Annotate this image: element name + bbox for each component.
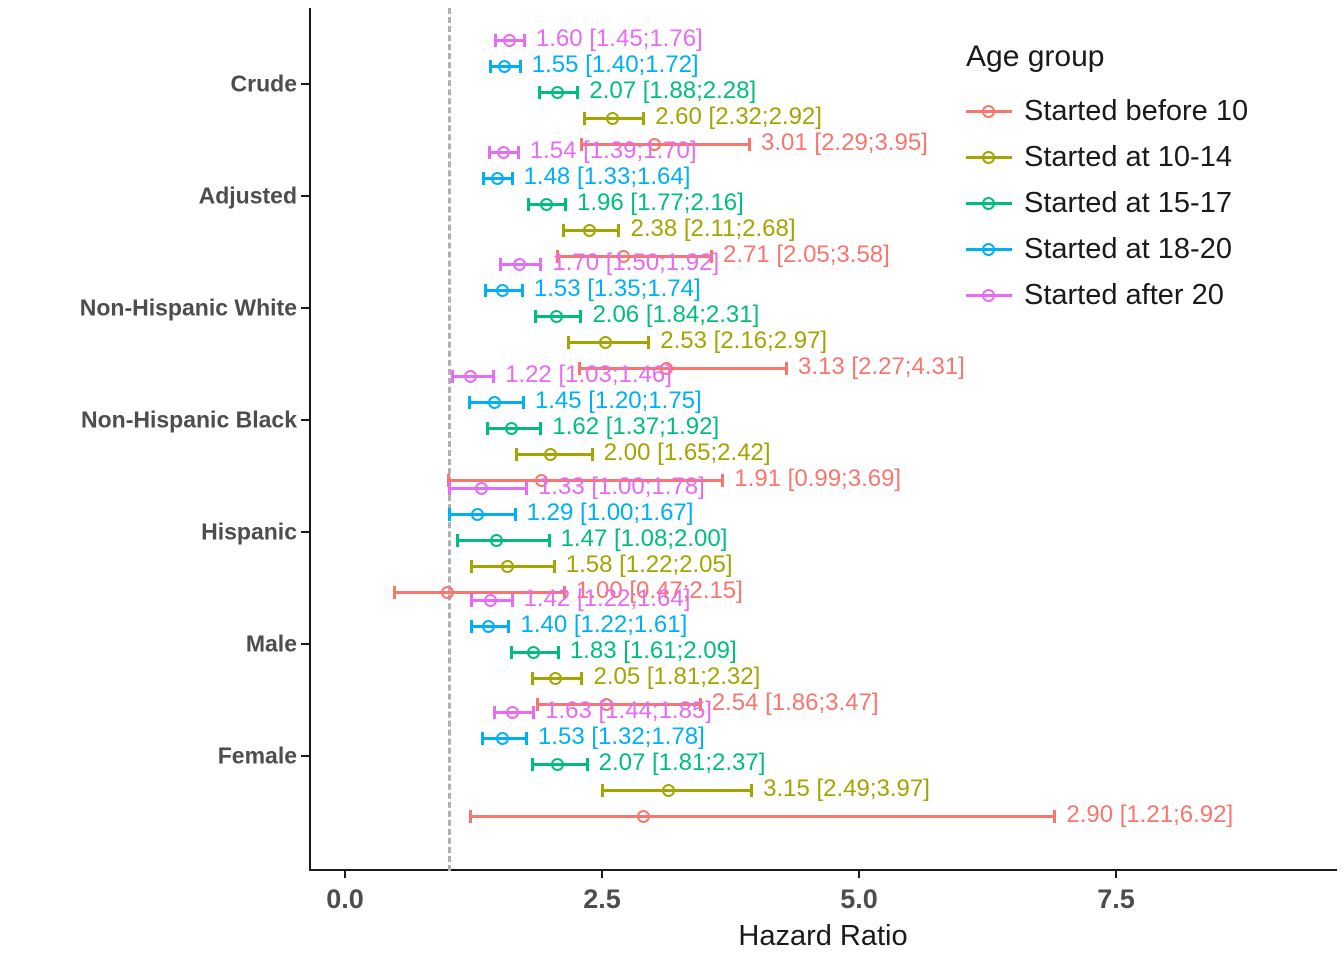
ci-lower-cap (486, 422, 489, 435)
point-estimate-marker[interactable] (484, 594, 497, 607)
ci-lower-cap (456, 534, 459, 547)
legend-key-icon (966, 283, 1012, 307)
point-estimate-marker[interactable] (490, 534, 503, 547)
estimate-label: 2.00 [1.65;2.42] (598, 439, 771, 467)
y-tick-mark (301, 307, 309, 309)
estimate-label: 1.58 [1.22;2.05] (560, 551, 733, 579)
estimate-label: 3.13 [2.27;4.31] (792, 353, 965, 381)
point-estimate-marker[interactable] (550, 310, 563, 323)
y-tick-mark (301, 419, 309, 421)
ci-upper-cap (511, 594, 514, 607)
y-tick-label-male: Male (246, 631, 297, 658)
point-estimate-marker[interactable] (496, 732, 509, 745)
ci-upper-cap (750, 784, 753, 797)
point-estimate-marker[interactable] (503, 34, 516, 47)
estimate-label: 1.45 [1.20;1.75] (529, 387, 702, 415)
ci-lower-cap (470, 620, 473, 633)
point-estimate-marker[interactable] (497, 146, 510, 159)
point-estimate-marker[interactable] (505, 422, 518, 435)
y-tick-mark (301, 195, 309, 197)
y-tick-label-non-hispanic-white: Non-Hispanic White (80, 295, 297, 322)
point-estimate-marker[interactable] (549, 672, 562, 685)
x-axis-label: Hazard Ratio (309, 920, 1337, 953)
legend-item-started-at-15-17[interactable]: Started at 15-17 (966, 180, 1336, 226)
x-tick-mark (858, 871, 860, 878)
legend-key-icon (966, 145, 1012, 169)
y-tick-mark (301, 755, 309, 757)
ci-lower-cap (493, 706, 496, 719)
x-tick-label: 0.0 (326, 884, 364, 915)
ci-lower-cap (470, 594, 473, 607)
forest-plot-figure: 1.60 [1.45;1.76]1.55 [1.40;1.72]2.07 [1.… (0, 0, 1344, 960)
estimate-label: 1.63 [1.44;1.85] (539, 697, 712, 725)
ci-upper-cap (548, 534, 551, 547)
legend-key-point-icon (982, 151, 995, 164)
ci-upper-cap (642, 112, 645, 125)
ci-lower-cap (484, 284, 487, 297)
y-tick-label-adjusted: Adjusted (199, 183, 297, 210)
point-estimate-marker[interactable] (441, 586, 454, 599)
estimate-label: 2.54 [1.86;3.47] (706, 689, 879, 717)
legend-key-point-icon (982, 105, 995, 118)
legend-items: Started before 10Started at 10-14Started… (966, 88, 1336, 318)
y-tick-label-hispanic: Hispanic (201, 519, 297, 546)
ci-upper-cap (532, 706, 535, 719)
ci-lower-cap (567, 336, 570, 349)
ci-upper-cap (517, 146, 520, 159)
point-estimate-marker[interactable] (544, 448, 557, 461)
estimate-label: 1.40 [1.22;1.61] (514, 611, 687, 639)
point-estimate-marker[interactable] (464, 370, 477, 383)
point-estimate-marker[interactable] (662, 784, 675, 797)
legend-key-point-icon (982, 243, 995, 256)
ci-upper-cap (591, 448, 594, 461)
ci-upper-cap (617, 224, 620, 237)
x-tick-mark (344, 871, 346, 878)
x-tick-mark (1115, 871, 1117, 878)
x-tick-label: 7.5 (1097, 884, 1135, 915)
ci-lower-cap (393, 586, 396, 599)
ci-upper-cap (507, 620, 510, 633)
point-estimate-marker[interactable] (583, 224, 596, 237)
ci-upper-cap (1053, 810, 1056, 823)
estimate-label: 1.29 [1.00;1.67] (521, 499, 694, 527)
point-estimate-marker[interactable] (498, 60, 511, 73)
estimate-label: 1.42 [1.22;1.64] (518, 585, 691, 613)
y-tick-mark (301, 531, 309, 533)
estimate-label: 3.01 [2.29;3.95] (755, 129, 928, 157)
estimate-label: 1.47 [1.08;2.00] (555, 525, 728, 553)
estimate-label: 2.07 [1.81;2.37] (593, 749, 766, 777)
legend-item-label: Started at 10-14 (1024, 141, 1232, 174)
ci-upper-cap (564, 198, 567, 211)
y-tick-mark (301, 643, 309, 645)
ci-upper-cap (523, 34, 526, 47)
ci-upper-cap (521, 284, 524, 297)
ci-upper-cap (557, 646, 560, 659)
estimate-label: 1.70 [1.50;1.92] (546, 249, 719, 277)
legend-item-label: Started after 20 (1024, 279, 1224, 312)
estimate-label: 3.15 [2.49;3.97] (757, 775, 930, 803)
legend-key-point-icon (982, 197, 995, 210)
point-estimate-marker[interactable] (471, 508, 484, 521)
ci-lower-cap (534, 310, 537, 323)
y-tick-mark (301, 83, 309, 85)
estimate-label: 1.96 [1.77;2.16] (571, 189, 744, 217)
legend-key-point-icon (982, 289, 995, 302)
ci-lower-cap (470, 560, 473, 573)
point-estimate-marker[interactable] (496, 284, 509, 297)
ci-lower-cap (448, 482, 451, 495)
ci-lower-cap (527, 198, 530, 211)
legend-item-started-after-20[interactable]: Started after 20 (966, 272, 1336, 318)
ci-lower-cap (601, 784, 604, 797)
confidence-interval-line (469, 815, 1056, 818)
estimate-label: 2.38 [2.11;2.68] (624, 215, 795, 243)
estimate-label: 1.60 [1.45;1.76] (530, 25, 703, 53)
legend: Age group Started before 10Started at 10… (966, 40, 1336, 318)
estimate-label: 2.71 [2.05;3.58] (717, 241, 890, 269)
ci-lower-cap (562, 224, 565, 237)
point-estimate-marker[interactable] (599, 336, 612, 349)
ci-lower-cap (583, 112, 586, 125)
ci-lower-cap (515, 448, 518, 461)
ci-upper-cap (647, 336, 650, 349)
ci-upper-cap (785, 362, 788, 375)
point-estimate-marker[interactable] (606, 112, 619, 125)
estimate-label: 2.60 [2.32;2.92] (649, 103, 822, 131)
confidence-interval-line (601, 789, 753, 792)
estimate-label: 2.06 [1.84;2.31] (586, 301, 759, 329)
estimate-label: 1.54 [1.39;1.70] (524, 137, 697, 165)
legend-item-label: Started at 15-17 (1024, 187, 1232, 220)
ci-upper-cap (576, 86, 579, 99)
ci-upper-cap (522, 396, 525, 409)
point-estimate-marker[interactable] (513, 258, 526, 271)
ci-lower-cap (482, 172, 485, 185)
ci-upper-cap (511, 172, 514, 185)
estimate-label: 1.55 [1.40;1.72] (526, 51, 699, 79)
ci-lower-cap (531, 672, 534, 685)
reference-line-hr-1 (448, 8, 451, 871)
point-estimate-marker[interactable] (491, 172, 504, 185)
ci-upper-cap (514, 508, 517, 521)
ci-upper-cap (519, 60, 522, 73)
ci-lower-cap (448, 508, 451, 521)
ci-lower-cap (510, 646, 513, 659)
ci-lower-cap (469, 810, 472, 823)
ci-lower-cap (489, 60, 492, 73)
legend-item-started-before-10[interactable]: Started before 10 (966, 88, 1336, 134)
point-estimate-marker[interactable] (482, 620, 495, 633)
ci-upper-cap (539, 422, 542, 435)
estimate-label: 1.53 [1.35;1.74] (528, 275, 701, 303)
estimate-label: 2.05 [1.81;2.32] (587, 663, 760, 691)
ci-lower-cap (481, 732, 484, 745)
estimate-label: 2.90 [1.21;6.92] (1060, 801, 1233, 829)
legend-key-icon (966, 237, 1012, 261)
x-tick-label: 2.5 (583, 884, 621, 915)
point-estimate-marker[interactable] (540, 198, 553, 211)
estimate-label: 1.91 [0.99;3.69] (728, 465, 901, 493)
point-estimate-marker[interactable] (551, 758, 564, 771)
ci-upper-cap (579, 310, 582, 323)
ci-upper-cap (580, 672, 583, 685)
legend-key-icon (966, 99, 1012, 123)
ci-lower-cap (488, 146, 491, 159)
point-estimate-marker[interactable] (501, 560, 514, 573)
x-tick-mark (601, 871, 603, 878)
estimate-label: 1.22 [1.03;1.46] (499, 361, 672, 389)
estimate-label: 2.07 [1.88;2.28] (583, 77, 756, 105)
y-tick-label-non-hispanic-black: Non-Hispanic Black (81, 407, 297, 434)
y-axis-line (309, 8, 311, 871)
x-axis-line (309, 869, 1337, 871)
ci-upper-cap (539, 258, 542, 271)
ci-upper-cap (492, 370, 495, 383)
ci-lower-cap (499, 258, 502, 271)
point-estimate-marker[interactable] (551, 86, 564, 99)
x-tick-label: 5.0 (840, 884, 878, 915)
ci-lower-cap (531, 758, 534, 771)
estimate-label: 2.53 [2.16;2.97] (654, 327, 827, 355)
ci-upper-cap (525, 732, 528, 745)
ci-upper-cap (721, 474, 724, 487)
ci-upper-cap (553, 560, 556, 573)
ci-upper-cap (748, 138, 751, 151)
legend-item-label: Started before 10 (1024, 95, 1248, 128)
point-estimate-marker[interactable] (527, 646, 540, 659)
ci-lower-cap (451, 370, 454, 383)
estimate-label: 1.48 [1.33;1.64] (518, 163, 691, 191)
ci-upper-cap (525, 482, 528, 495)
legend-key-icon (966, 191, 1012, 215)
legend-item-started-at-18-20[interactable]: Started at 18-20 (966, 226, 1336, 272)
estimate-label: 1.33 [1.00;1.78] (532, 473, 705, 501)
estimate-label: 1.83 [1.61;2.09] (564, 637, 737, 665)
point-estimate-marker[interactable] (475, 482, 488, 495)
point-estimate-marker[interactable] (637, 810, 650, 823)
legend-item-label: Started at 18-20 (1024, 233, 1232, 266)
ci-upper-cap (586, 758, 589, 771)
point-estimate-marker[interactable] (488, 396, 501, 409)
estimate-label: 1.62 [1.37;1.92] (546, 413, 719, 441)
point-estimate-marker[interactable] (506, 706, 519, 719)
ci-lower-cap (468, 396, 471, 409)
confidence-interval-line (456, 539, 551, 542)
legend-title: Age group (966, 40, 1336, 74)
y-tick-label-crude: Crude (231, 71, 297, 98)
ci-lower-cap (494, 34, 497, 47)
y-tick-label-female: Female (218, 743, 297, 770)
legend-item-started-at-10-14[interactable]: Started at 10-14 (966, 134, 1336, 180)
ci-lower-cap (538, 86, 541, 99)
estimate-label: 1.53 [1.32;1.78] (532, 723, 705, 751)
